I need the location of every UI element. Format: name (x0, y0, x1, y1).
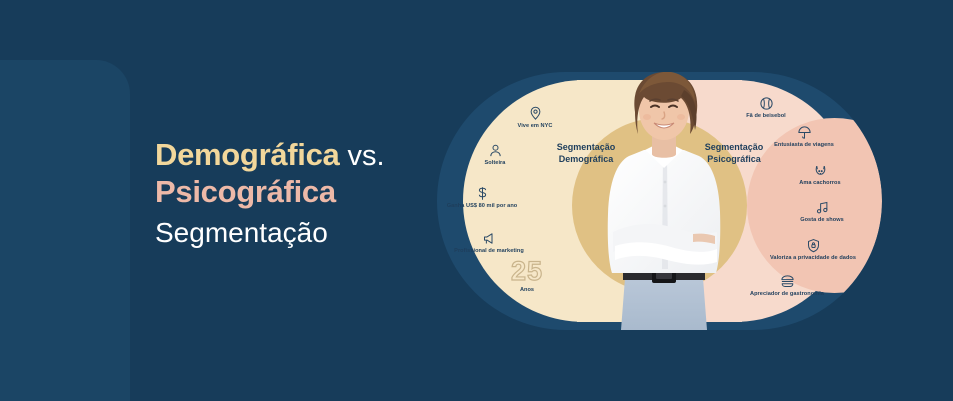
node-label: Profissional de marketing (454, 248, 524, 254)
page-title: Demográfica vs. Psicográfica Segmentação (155, 137, 455, 249)
node-label: Ama cachorros (799, 180, 840, 186)
node-label: Vive em NYC (518, 123, 553, 129)
node-label: Ganha US$ 80 mil por ano (447, 203, 518, 209)
node-solteira: Solteira (450, 143, 540, 168)
node-label: Fã de beisebol (746, 113, 786, 119)
node-fa-beisebol: Fã de beisebol (721, 96, 811, 121)
person-icon (450, 143, 540, 158)
baseball-icon (721, 96, 811, 111)
dollar-icon (437, 186, 527, 201)
node-label: Apreciador de gastronomia (750, 291, 824, 297)
shield-lock-icon (768, 238, 858, 253)
headline-vs: vs. (340, 140, 385, 172)
decorative-left-panel (0, 60, 130, 401)
node-entusiasta-viagens: Entusiasta de viagens (759, 125, 849, 150)
headline-psicografica: Psicográfica (155, 174, 455, 210)
burger-icon (742, 274, 832, 289)
demographic-title: Segmentação Demográfica (531, 141, 641, 165)
node-label: Gosta de shows (800, 217, 844, 223)
map-pin-icon (490, 106, 580, 121)
node-renda: Ganha US$ 80 mil por ano (437, 186, 527, 211)
headline-demografica: Demográfica (155, 137, 340, 172)
node-label: Solteira (485, 160, 506, 166)
node-label: Entusiasta de viagens (774, 142, 834, 148)
node-vive-em-nyc: Vive em NYC (490, 106, 580, 131)
megaphone-icon (444, 231, 534, 246)
age-label: Anos (487, 287, 567, 293)
node-idade: 25 Anos (487, 258, 567, 293)
node-gosta-shows: Gosta de shows (777, 200, 867, 225)
node-profissional-marketing: Profissional de marketing (444, 231, 534, 256)
beach-umbrella-icon (759, 125, 849, 140)
node-privacidade-dados: Valoriza a privacidade de dados (768, 238, 858, 263)
avatar (589, 72, 739, 330)
age-number: 25 (487, 258, 567, 285)
headline-segmentacao: Segmentação (155, 217, 455, 249)
node-gastronomia: Apreciador de gastronomia (742, 274, 832, 299)
node-ama-cachorros: Ama cachorros (775, 163, 865, 188)
music-note-icon (777, 200, 867, 215)
dog-icon (775, 163, 865, 178)
node-label: Valoriza a privacidade de dados (770, 255, 856, 261)
